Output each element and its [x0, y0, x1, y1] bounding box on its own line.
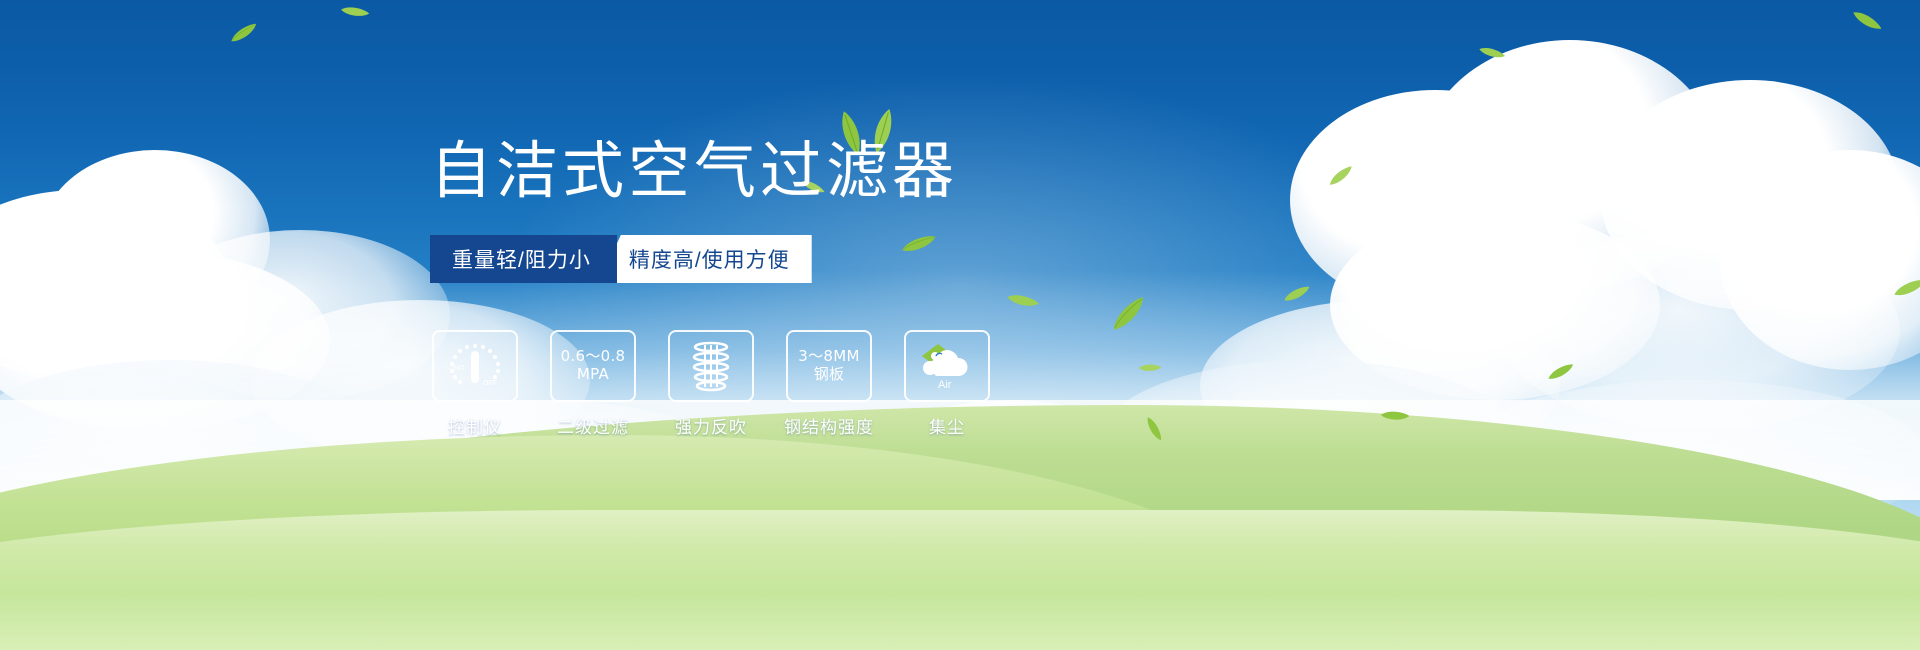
- feature-icon-row: NO OFF 控制仪 0.6～0.8 MPA 二级过滤: [432, 330, 990, 438]
- dial-label-off: OFF: [483, 380, 497, 387]
- feature-caption: 二级过滤: [557, 413, 629, 438]
- steel-plate-text-icon: 3～8MM 钢板: [786, 330, 872, 402]
- pressure-unit: MPA: [577, 366, 609, 384]
- pressure-text-icon: 0.6～0.8 MPA: [550, 330, 636, 402]
- steel-material: 钢板: [814, 366, 845, 384]
- feature-caption: 强力反吹: [675, 413, 747, 438]
- air-label: Air: [938, 379, 952, 391]
- pressure-range: 0.6～0.8: [561, 348, 626, 366]
- badge-weight-resistance: 重量轻/阻力小: [430, 235, 617, 283]
- page-title: 自洁式空气过滤器: [430, 138, 958, 203]
- tagline-badges: 重量轻/阻力小 精度高/使用方便: [430, 235, 812, 283]
- steel-thickness: 3～8MM: [798, 348, 859, 366]
- feature-item-blowback: 强力反吹: [668, 330, 754, 438]
- dial-label-no: NO: [454, 365, 465, 372]
- feature-caption: 集尘: [929, 413, 965, 438]
- feature-caption: 控制仪: [448, 413, 502, 438]
- feature-item-dust: Air 集尘: [904, 330, 990, 438]
- feature-item-steel: 3～8MM 钢板 钢结构强度: [786, 330, 872, 438]
- badge-precision-convenience: 精度高/使用方便: [599, 235, 812, 283]
- filter-coil-icon: [668, 330, 754, 402]
- badge-label: 重量轻/阻力小: [452, 244, 591, 274]
- control-dial-icon: NO OFF: [432, 330, 518, 402]
- feature-item-filter-stage: 0.6～0.8 MPA 二级过滤: [550, 330, 636, 438]
- air-cloud-icon: Air: [904, 330, 990, 402]
- feature-caption: 钢结构强度: [784, 413, 874, 438]
- feature-item-control: NO OFF 控制仪: [432, 330, 518, 438]
- product-hero-banner: 自洁式空气过滤器 重量轻/阻力小 精度高/使用方便: [0, 0, 1920, 650]
- badge-label: 精度高/使用方便: [629, 244, 790, 274]
- banner-content: 自洁式空气过滤器 重量轻/阻力小 精度高/使用方便: [0, 0, 1920, 650]
